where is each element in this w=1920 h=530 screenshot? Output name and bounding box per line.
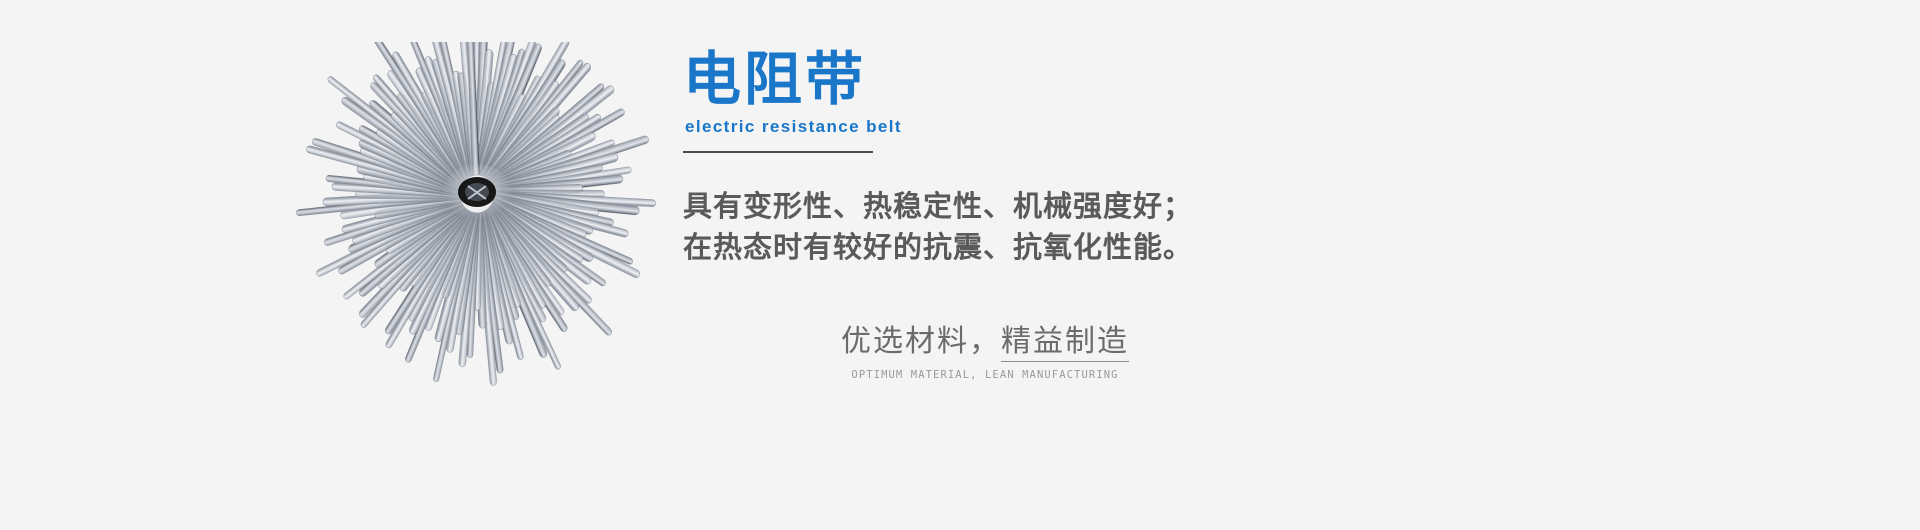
product-banner: 电阻带 electric resistance belt 具有变形性、热稳定性、… (0, 0, 1920, 530)
page-subtitle: electric resistance belt (685, 117, 902, 137)
page-title: 电阻带 (683, 48, 866, 110)
tagline-chinese-first: 优选材料， (841, 324, 1001, 359)
tagline-chinese: 优选材料，精益制造 (775, 322, 1195, 362)
tagline-chinese-second: 精益制造 (1001, 324, 1129, 362)
description-line-1: 具有变形性、热稳定性、机械强度好； (683, 186, 1243, 227)
product-image (282, 42, 672, 387)
text-content: 电阻带 electric resistance belt 具有变形性、热稳定性、… (683, 0, 1583, 530)
product-description: 具有变形性、热稳定性、机械强度好； 在热态时有较好的抗震、抗氧化性能。 (683, 186, 1243, 268)
title-divider (683, 151, 873, 153)
resistance-belt-burst-illustration (282, 42, 672, 387)
tagline-group: 优选材料，精益制造 OPTIMUM MATERIAL, LEAN MANUFAC… (775, 322, 1195, 382)
description-line-2: 在热态时有较好的抗震、抗氧化性能。 (683, 227, 1243, 268)
tagline-english: OPTIMUM MATERIAL, LEAN MANUFACTURING (775, 369, 1195, 382)
